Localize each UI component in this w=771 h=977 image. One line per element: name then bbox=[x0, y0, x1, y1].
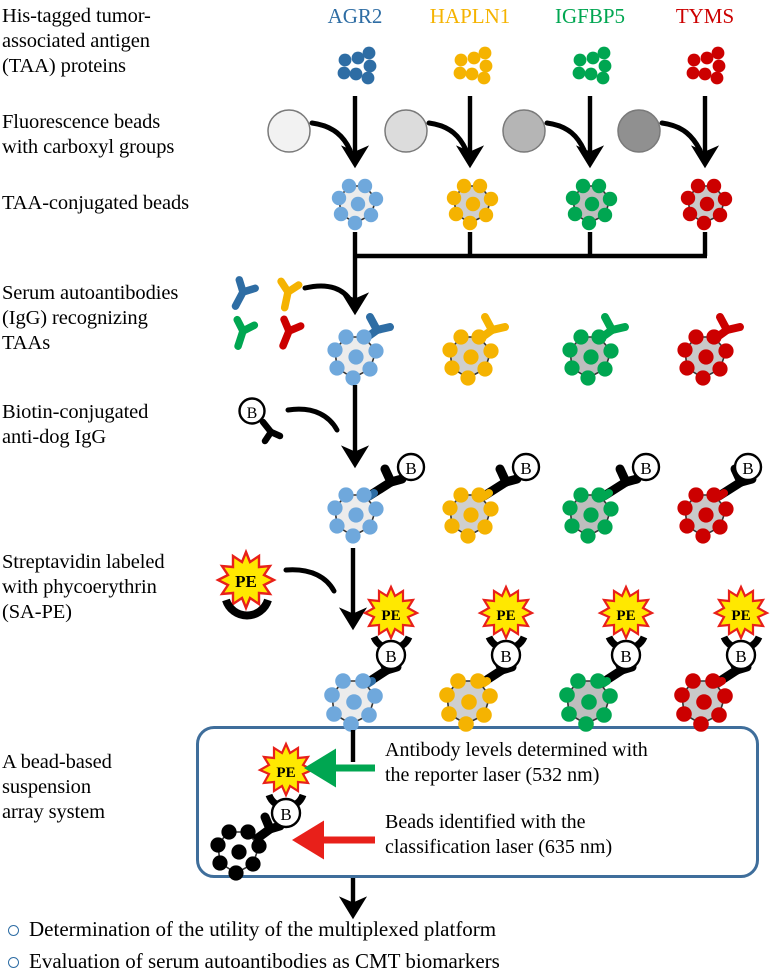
fluorescence-bead-3 bbox=[503, 110, 545, 152]
antigen-header-igfbp5: IGFBP5 bbox=[530, 4, 650, 28]
step-label-line: with phycoerythrin bbox=[2, 575, 252, 600]
readout-line: classification laser (635 nm) bbox=[385, 835, 760, 860]
readout-text-reporter-laser: Antibody levels determined with the repo… bbox=[385, 738, 760, 788]
outcome-item-2: Evaluation of serum autoantibodies as CM… bbox=[8, 948, 500, 974]
manifold-bus bbox=[353, 232, 707, 302]
fluorescence-bead-4 bbox=[618, 110, 660, 152]
fluorescence-bead-1 bbox=[268, 110, 310, 152]
antigen-name-hapln1: HAPLN1 bbox=[430, 4, 511, 28]
biotin-letter: B bbox=[735, 647, 746, 666]
full-complex-agr2: PE B bbox=[324, 587, 417, 732]
bead-with-biotin-hapln1: B bbox=[442, 454, 539, 544]
step-label-line: TAA-conjugated beads bbox=[2, 191, 272, 216]
step-label-line: array system bbox=[2, 800, 202, 825]
pe-label: PE bbox=[731, 608, 750, 624]
bead-with-biotin-tyms: B bbox=[677, 454, 761, 544]
bead-feed-curves bbox=[312, 123, 700, 150]
biotin-letter: B bbox=[520, 459, 531, 478]
bullet-circle-icon bbox=[8, 925, 19, 936]
step-label-taa-conjugated-beads: TAA-conjugated beads bbox=[2, 191, 272, 216]
antigen-header-tyms: TYMS bbox=[650, 4, 760, 28]
protein-drop-lines bbox=[355, 96, 705, 155]
biotin-letter: B bbox=[620, 647, 631, 666]
antibody-icon-red bbox=[275, 319, 301, 349]
pe-label: PE bbox=[616, 608, 635, 624]
step-label-line: Serum autoantibodies bbox=[2, 281, 252, 306]
step-label-line: Biotin-conjugated bbox=[2, 400, 252, 425]
antigen-header-hapln1: HAPLN1 bbox=[410, 4, 530, 28]
step-label-taa-proteins: His-tagged tumor- associated antigen (TA… bbox=[2, 4, 267, 79]
readout-line: the reporter laser (532 nm) bbox=[385, 763, 760, 788]
step-label-serum-autoantibodies: Serum autoantibodies (IgG) recognizing T… bbox=[2, 281, 252, 356]
streptavidin-cup-icon bbox=[374, 637, 409, 649]
step-label-line: Streptavidin labeled bbox=[2, 550, 252, 575]
antigen-name-igfbp5: IGFBP5 bbox=[555, 4, 625, 28]
streptavidin-cup-icon bbox=[724, 637, 759, 649]
pe-star-icon bbox=[480, 587, 532, 638]
antigen-name-tyms: TYMS bbox=[676, 4, 734, 28]
streptavidin-cup-icon bbox=[609, 637, 644, 649]
step-label-line: (SA-PE) bbox=[2, 600, 252, 625]
taa-conjugated-bead-hapln1 bbox=[447, 179, 498, 230]
taa-protein-cluster-igfbp5 bbox=[573, 47, 612, 85]
bead-with-antibody-igfbp5 bbox=[562, 317, 625, 386]
bead-with-biotin-igfbp5: B bbox=[562, 454, 659, 544]
taa-protein-cluster-tyms bbox=[687, 47, 726, 85]
bead-with-biotin-agr2: B bbox=[327, 454, 424, 544]
outcome-item-1: Determination of the utility of the mult… bbox=[8, 916, 496, 942]
step-label-streptavidin: Streptavidin labeled with phycoerythrin … bbox=[2, 550, 252, 625]
pe-star-icon bbox=[365, 587, 417, 638]
step-label-line: Fluorescence beads bbox=[2, 110, 272, 135]
readout-text-classification-laser: Beads identified with the classification… bbox=[385, 810, 760, 860]
pe-label: PE bbox=[381, 608, 400, 624]
outcome-text: Determination of the utility of the mult… bbox=[29, 916, 496, 942]
taa-conjugated-bead-tyms bbox=[681, 179, 732, 230]
sa-pe-feed-curve bbox=[286, 570, 334, 591]
antibody-icon-yellow bbox=[276, 281, 299, 309]
readout-line: Antibody levels determined with bbox=[385, 738, 760, 763]
pe-star-icon bbox=[600, 587, 652, 638]
taa-protein-cluster-agr2 bbox=[338, 47, 377, 85]
bead-with-antibody-tyms bbox=[677, 317, 740, 386]
readout-line: Beads identified with the bbox=[385, 810, 760, 835]
biotin-letter: B bbox=[640, 459, 651, 478]
pe-label: PE bbox=[496, 608, 515, 624]
bullet-circle-icon bbox=[8, 957, 19, 968]
biotin-feed-curve bbox=[288, 409, 337, 430]
bead-with-antibody-hapln1 bbox=[442, 317, 505, 386]
bead-with-antibody-agr2 bbox=[327, 317, 390, 386]
figure-canvas: AGR2 HAPLN1 IGFBP5 TYMS His-tagged tumor… bbox=[0, 0, 771, 977]
step-label-array-system: A bead-based suspension array system bbox=[2, 750, 202, 825]
full-complex-tyms: PE B bbox=[674, 587, 767, 732]
step-label-line: TAAs bbox=[2, 331, 252, 356]
pe-star-icon bbox=[715, 587, 767, 638]
taa-conjugated-bead-agr2 bbox=[332, 179, 383, 230]
step-label-line: suspension bbox=[2, 775, 202, 800]
antigen-name-agr2: AGR2 bbox=[328, 4, 383, 28]
full-complex-hapln1: PE B bbox=[439, 587, 532, 732]
outcome-text: Evaluation of serum autoantibodies as CM… bbox=[29, 948, 500, 974]
biotin-letter: B bbox=[405, 459, 416, 478]
step-label-line: (TAA) proteins bbox=[2, 54, 267, 79]
step-label-fluorescence-beads: Fluorescence beads with carboxyl groups bbox=[2, 110, 272, 160]
step-label-line: with carboxyl groups bbox=[2, 135, 272, 160]
step-label-biotin-conjugated: Biotin-conjugated anti-dog IgG bbox=[2, 400, 252, 450]
serum-feed-curve bbox=[305, 286, 351, 301]
taa-protein-cluster-hapln1 bbox=[454, 47, 493, 85]
streptavidin-cup-icon bbox=[489, 637, 524, 649]
biotin-letter: B bbox=[500, 647, 511, 666]
biotin-letter: B bbox=[385, 647, 396, 666]
step-label-line: A bead-based bbox=[2, 750, 202, 775]
biotin-letter: B bbox=[742, 459, 753, 478]
antigen-header-agr2: AGR2 bbox=[300, 4, 410, 28]
fluorescence-bead-2 bbox=[385, 110, 427, 152]
step-label-line: anti-dog IgG bbox=[2, 425, 252, 450]
full-complex-igfbp5: PE B bbox=[559, 587, 652, 732]
step-label-line: His-tagged tumor- bbox=[2, 4, 267, 29]
taa-conjugated-bead-igfbp5 bbox=[566, 179, 617, 230]
step-label-line: (IgG) recognizing bbox=[2, 306, 252, 331]
step-label-line: associated antigen bbox=[2, 29, 267, 54]
